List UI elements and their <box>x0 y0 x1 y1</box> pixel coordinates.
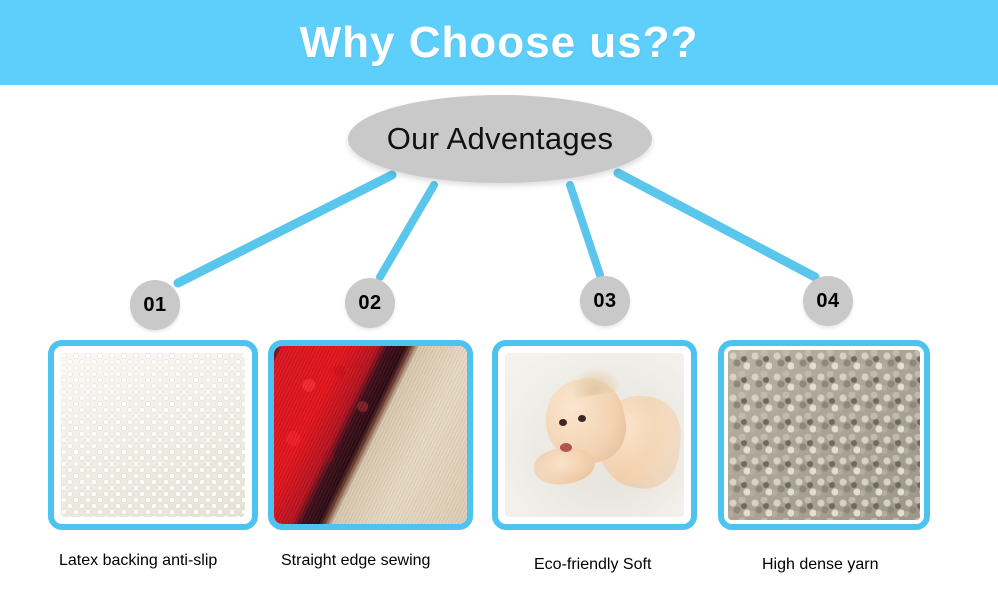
advantage-caption-03: Eco-friendly Soft <box>534 556 651 574</box>
advantage-card-02 <box>268 340 473 530</box>
advantage-caption-01: Latex backing anti-slip <box>59 552 217 570</box>
latex-backing-photo <box>61 353 245 517</box>
advantage-card-04 <box>718 340 930 530</box>
advantage-caption-02: Straight edge sewing <box>281 552 430 570</box>
advantage-image-frame-04 <box>728 350 920 520</box>
advantage-image-frame-02 <box>274 346 467 524</box>
red-rug-edge-photo <box>274 346 467 524</box>
advantage-card-01 <box>48 340 258 530</box>
center-node: Our Adventages <box>348 95 652 183</box>
infographic-page: Why Choose us?? Our Adventages 01 02 03 … <box>0 0 998 600</box>
rug-grain-layer <box>274 346 467 524</box>
number-badge-label: 01 <box>143 294 166 317</box>
connector-line-02 <box>380 185 434 277</box>
connector-line-04 <box>618 173 815 277</box>
number-badge-03: 03 <box>580 276 630 326</box>
number-badge-02: 02 <box>345 278 395 328</box>
number-badge-04: 04 <box>803 276 853 326</box>
baby-on-rug-photo <box>505 353 684 517</box>
advantage-image-frame-03 <box>505 353 684 517</box>
advantage-card-03 <box>492 340 697 530</box>
number-badge-label: 03 <box>593 290 616 313</box>
number-badge-01: 01 <box>130 280 180 330</box>
advantage-caption-04: High dense yarn <box>762 556 879 574</box>
carpet-pile-photo <box>728 350 920 520</box>
advantage-image-frame-01 <box>61 353 245 517</box>
photo-vignette <box>505 353 684 517</box>
number-badge-label: 04 <box>816 290 839 313</box>
connector-line-01 <box>178 175 392 283</box>
connector-line-03 <box>570 185 600 275</box>
center-node-label: Our Adventages <box>387 121 614 157</box>
number-badge-label: 02 <box>358 292 381 315</box>
